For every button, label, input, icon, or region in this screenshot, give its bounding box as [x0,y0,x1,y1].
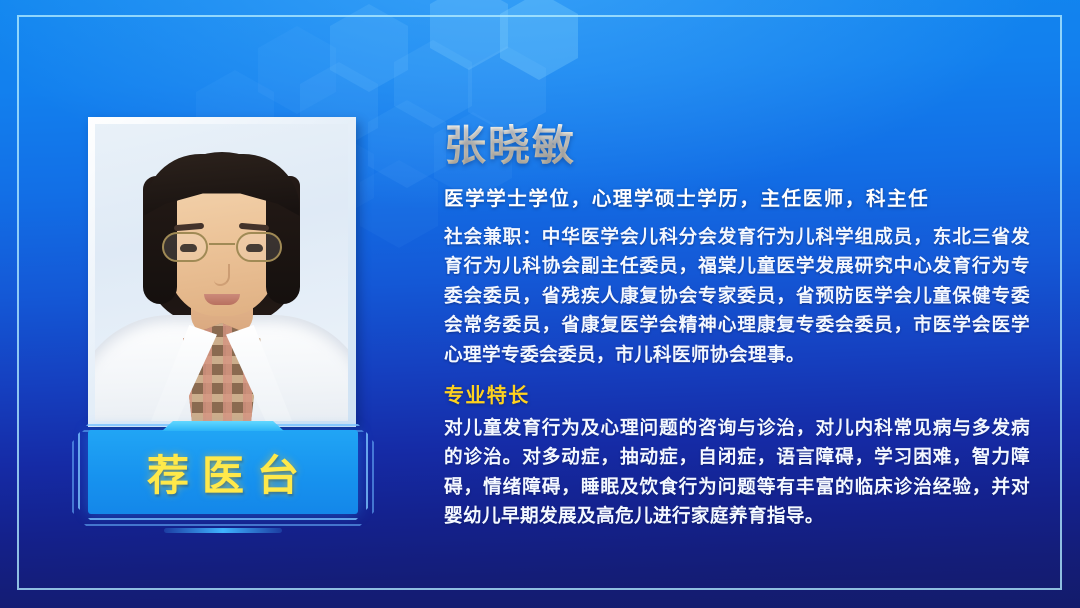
hexagon-shape [258,26,336,114]
doctor-credentials: 医学学士学位，心理学硕士学历，主任医师，科主任 [444,182,1030,211]
hexagon-shape [430,0,508,70]
portrait-mouth-shape [204,294,240,305]
hexagon-shape [368,100,446,188]
poster-canvas: 荐医台 张晓敏 医学学士学位，心理学硕士学历，主任医师，科主任 社会兼职：中华医… [0,0,1080,608]
social-positions-text: 社会兼职：中华医学会儿科分会发育行为儿科学组成员，东北三省发育行为儿科协会副主任… [444,223,1030,370]
hexagon-shape [394,40,472,128]
hexagon-shape [468,46,546,134]
specialty-heading: 专业特长 [444,379,1030,408]
nameplate: 荐医台 [70,420,376,538]
nameplate-underline-accent [164,528,282,533]
portrait-photo-frame [88,117,356,427]
doctor-name: 张晓敏 [444,124,1030,168]
hexagon-shape [500,0,578,80]
portrait-glasses-shape [160,232,284,264]
glasses-lens-right [236,232,282,262]
portrait-photo-image [95,124,348,421]
nameplate-label: 荐医台 [88,430,358,514]
doctor-portrait [88,117,356,427]
glasses-lens-left [162,232,208,262]
glasses-bridge [209,243,235,245]
hexagon-shape [330,4,408,92]
hexagon-shape [360,160,438,248]
nameplate-panel: 荐医台 [88,430,358,514]
specialty-text: 对儿童发育行为及心理问题的咨询与诊治，对儿内科常见病与多发病的诊治。对多动症，抽… [444,414,1030,532]
profile-text-column: 张晓敏 医学学士学位，心理学硕士学历，主任医师，科主任 社会兼职：中华医学会儿科… [444,124,1030,531]
